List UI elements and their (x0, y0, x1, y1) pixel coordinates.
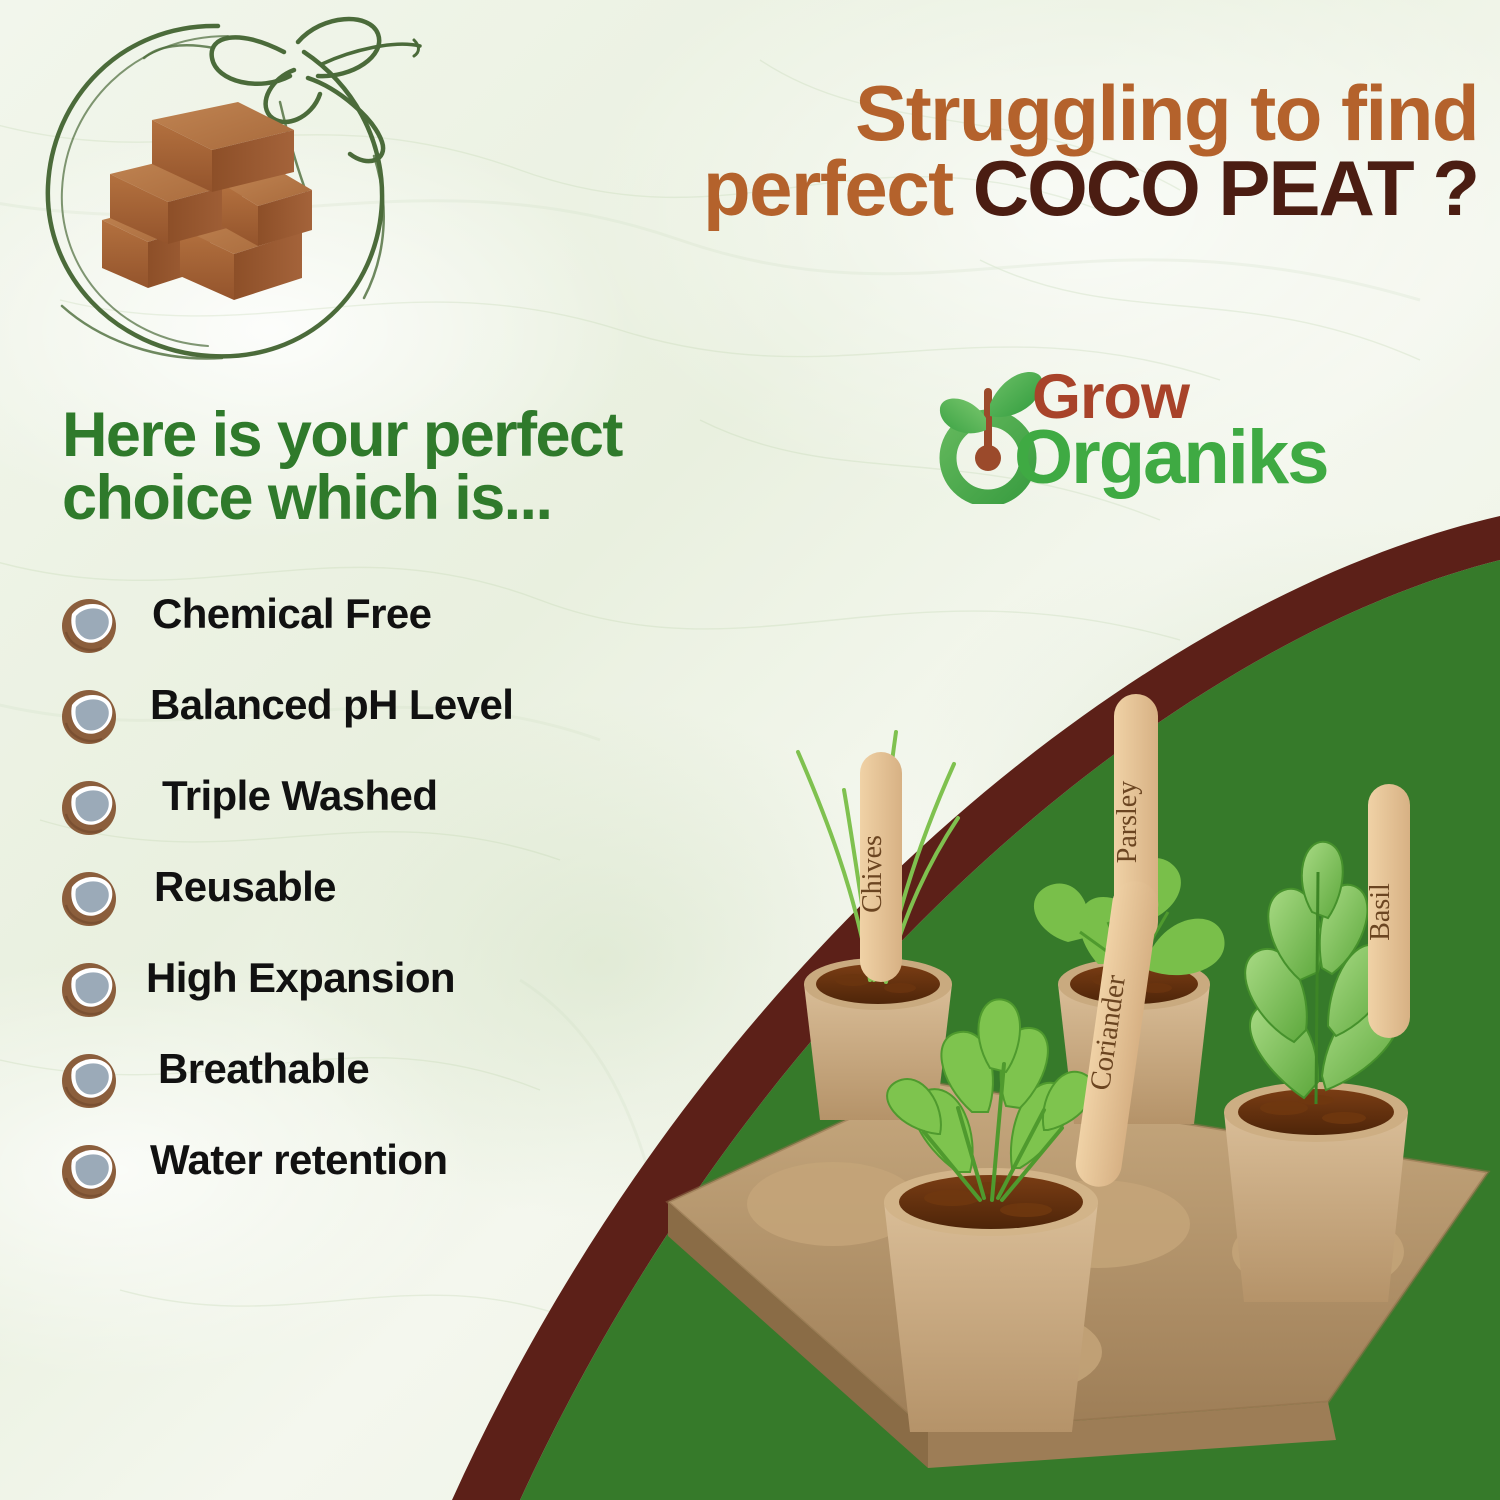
feature-item: Reusable (58, 865, 678, 956)
feature-item: Water retention (58, 1138, 678, 1229)
feature-item: Balanced pH Level (58, 683, 678, 774)
brand-logo: Grow Organiks (936, 362, 1336, 512)
feature-label: Breathable (158, 1045, 369, 1093)
subheading-line-2: choice which is... (62, 467, 822, 530)
headline-coco-peat: COCO PEAT ? (973, 144, 1478, 232)
poster-canvas: Struggling to find perfect COCO PEAT ? H… (0, 0, 1500, 1500)
headline: Struggling to find perfect COCO PEAT ? (468, 76, 1478, 226)
feature-item: High Expansion (58, 956, 678, 1047)
feature-label: Water retention (150, 1136, 447, 1184)
seedling-tray-photo: Chives Parsley (628, 612, 1500, 1492)
pot-chives: Chives (798, 732, 958, 1120)
coco-peat-bricks-image (72, 92, 342, 307)
subheading: Here is your perfect choice which is... (62, 404, 822, 530)
feature-label: Chemical Free (152, 590, 431, 638)
feature-label: High Expansion (146, 954, 455, 1002)
coconut-icon (58, 685, 120, 747)
coconut-icon (58, 958, 120, 1020)
coconut-icon (58, 1140, 120, 1202)
coconut-icon (58, 1049, 120, 1111)
coconut-icon (58, 776, 120, 838)
feature-label: Reusable (154, 863, 336, 911)
subheading-line-1: Here is your perfect (62, 404, 822, 467)
feature-item: Breathable (58, 1047, 678, 1138)
feature-item: Triple Washed (58, 774, 678, 865)
headline-line-1: Struggling to find (468, 76, 1478, 151)
pot-basil: Basil (1224, 784, 1410, 1302)
logo-word-organiks: Organiks (1014, 420, 1327, 496)
headline-perfect: perfect (703, 144, 973, 232)
feature-item: Chemical Free (58, 592, 678, 683)
feature-label: Triple Washed (162, 772, 437, 820)
coconut-icon (58, 867, 120, 929)
coconut-icon (58, 594, 120, 656)
headline-line-2: perfect COCO PEAT ? (468, 151, 1478, 226)
plant-label-basil: Basil (1365, 784, 1410, 1038)
feature-label: Balanced pH Level (150, 681, 513, 729)
feature-list: Chemical Free Balanced pH Level Triple W… (58, 592, 678, 1229)
svg-text:Parsley: Parsley (1112, 781, 1143, 863)
svg-text:Basil: Basil (1365, 883, 1396, 941)
svg-text:Chives: Chives (857, 835, 888, 913)
plant-label-chives: Chives (857, 752, 902, 982)
